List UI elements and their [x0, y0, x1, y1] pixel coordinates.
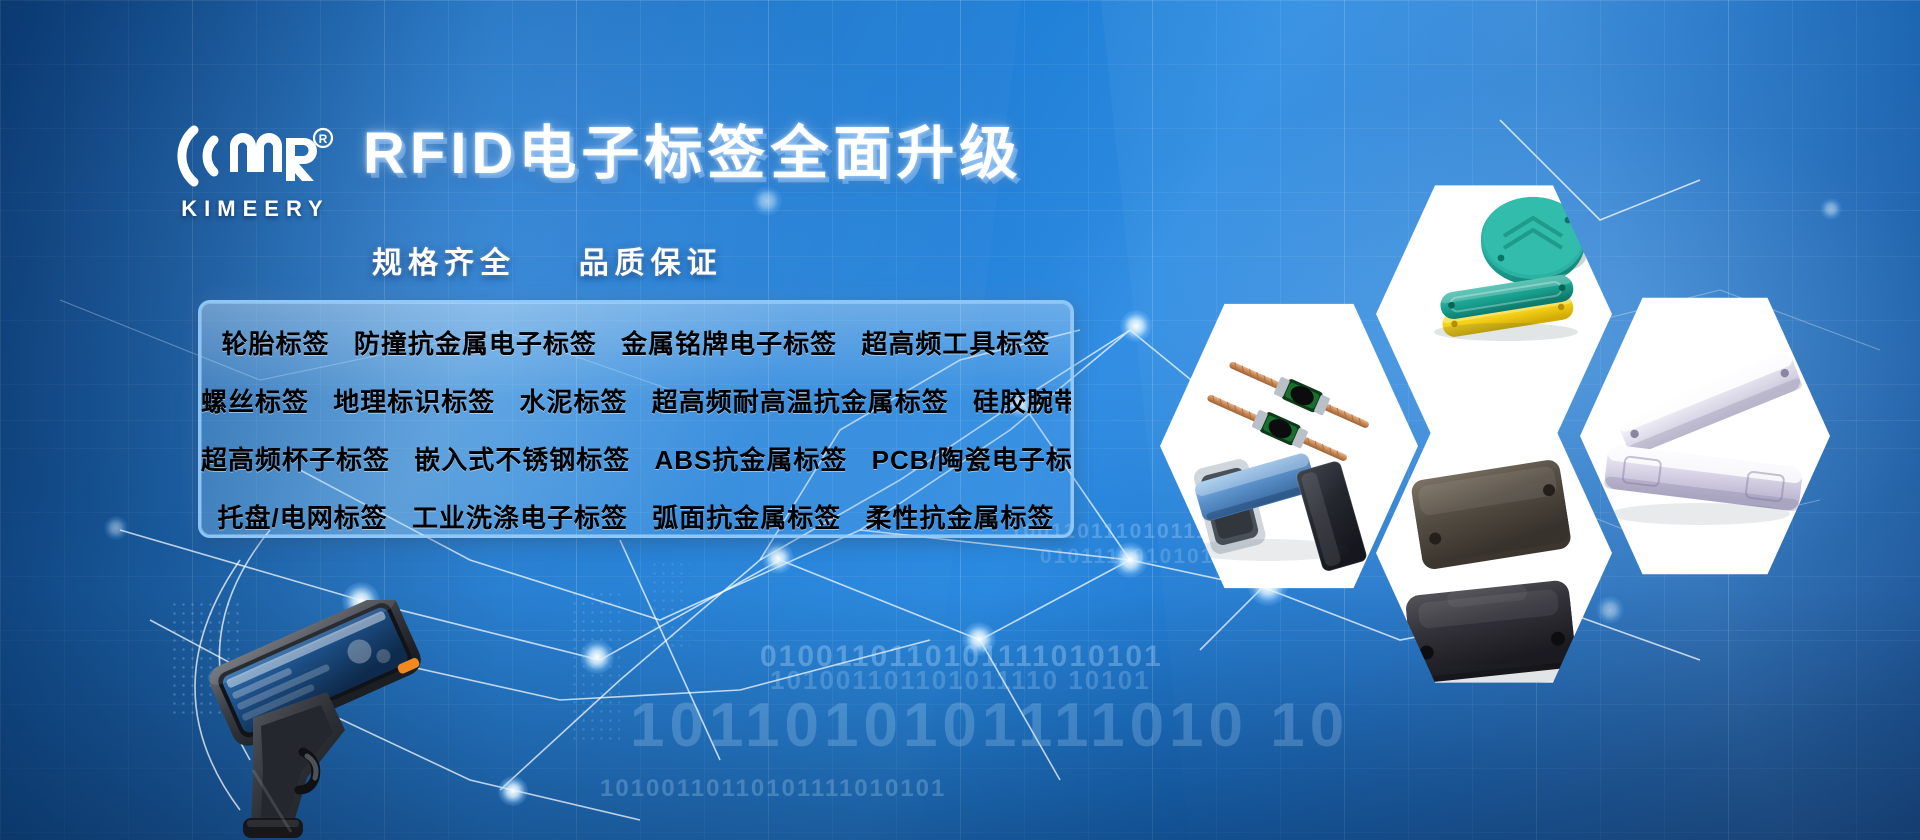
- product-item[interactable]: PCB/陶瓷电子标签: [872, 445, 1074, 475]
- glow-node: [1120, 310, 1152, 342]
- glow-node: [962, 622, 996, 656]
- binary-decoration: 0100110110101111010101: [760, 640, 1163, 674]
- binary-decoration: 101001101101011110 10101: [770, 665, 1151, 696]
- kimeery-signal-logo-icon: R: [168, 120, 338, 192]
- hexagon-products-round-bar: [1376, 180, 1612, 448]
- subtitle-left: 规格齐全: [372, 247, 516, 280]
- glow-node: [762, 542, 794, 574]
- subtitle: 规格齐全 品质保证: [372, 238, 723, 282]
- product-item[interactable]: 嵌入式不锈钢标签: [414, 445, 630, 475]
- hexagon-products-white-tags: [1580, 292, 1830, 580]
- product-item[interactable]: 超高频杯子标签: [201, 445, 390, 475]
- product-item[interactable]: 地理标识标签: [333, 387, 495, 417]
- subtitle-right: 品质保证: [579, 247, 723, 280]
- svg-text:R: R: [319, 132, 328, 146]
- product-item[interactable]: 轮胎标签: [222, 329, 330, 359]
- product-item[interactable]: 超高频耐高温抗金属标签: [652, 387, 949, 417]
- product-row-3: 超高频杯子标签 嵌入式不锈钢标签 ABS抗金属标签 PCB/陶瓷电子标签: [201, 431, 1071, 489]
- product-item[interactable]: 螺丝标签: [201, 387, 309, 417]
- product-item[interactable]: 硅胶腕带: [973, 387, 1074, 417]
- data-dots-b: [570, 590, 620, 740]
- hexagon-flexible-white-tags[interactable]: [1580, 292, 1830, 580]
- product-row-2: 螺丝标签 地理标识标签 水泥标签 超高频耐高温抗金属标签 硅胶腕带: [201, 373, 1071, 431]
- hexagon-round-and-bar-tags[interactable]: [1376, 180, 1612, 448]
- product-item[interactable]: 工业洗涤电子标签: [412, 503, 628, 533]
- glow-node: [752, 186, 782, 216]
- registered-mark-icon: R: [314, 129, 332, 147]
- data-dots-c: [650, 560, 690, 650]
- page-title: RFID电子标签全面升级: [363, 124, 1022, 185]
- binary-decoration-large: 1011010101111010 10: [630, 690, 1349, 761]
- glow-node: [1112, 542, 1148, 578]
- product-item[interactable]: 弧面抗金属标签: [652, 503, 841, 533]
- glow-node: [104, 516, 128, 540]
- glow-node: [498, 776, 528, 806]
- product-item[interactable]: 防撞抗金属电子标签: [354, 329, 597, 359]
- product-row-4: 托盘/电网标签 工业洗涤电子标签 弧面抗金属标签 柔性抗金属标签: [201, 489, 1071, 538]
- binary-decoration: 10100110110101111010101: [600, 775, 946, 803]
- product-item[interactable]: 托盘/电网标签: [218, 503, 388, 533]
- product-row-1: 轮胎标签 防撞抗金属电子标签 金属铭牌电子标签 超高频工具标签: [201, 315, 1071, 373]
- product-item[interactable]: 金属铭牌电子标签: [621, 329, 837, 359]
- handheld-rfid-reader[interactable]: [195, 600, 455, 840]
- rfid-promo-banner: 1011010101111010 10 01001101101011110101…: [0, 0, 1920, 840]
- product-item[interactable]: 水泥标签: [520, 387, 628, 417]
- glow-node: [580, 640, 614, 674]
- product-list-panel: 轮胎标签 防撞抗金属电子标签 金属铭牌电子标签 超高频工具标签 螺丝标签 地理标…: [198, 300, 1074, 538]
- brand-wordmark: KIMEERY: [168, 196, 338, 222]
- product-item[interactable]: 超高频工具标签: [861, 329, 1050, 359]
- handheld-reader-illustration: [195, 600, 455, 840]
- product-item[interactable]: 柔性抗金属标签: [865, 503, 1054, 533]
- product-item[interactable]: ABS抗金属标签: [655, 445, 848, 475]
- brand-logo: R KIMEERY: [168, 120, 338, 222]
- product-hexagon-cluster: [1160, 180, 1900, 650]
